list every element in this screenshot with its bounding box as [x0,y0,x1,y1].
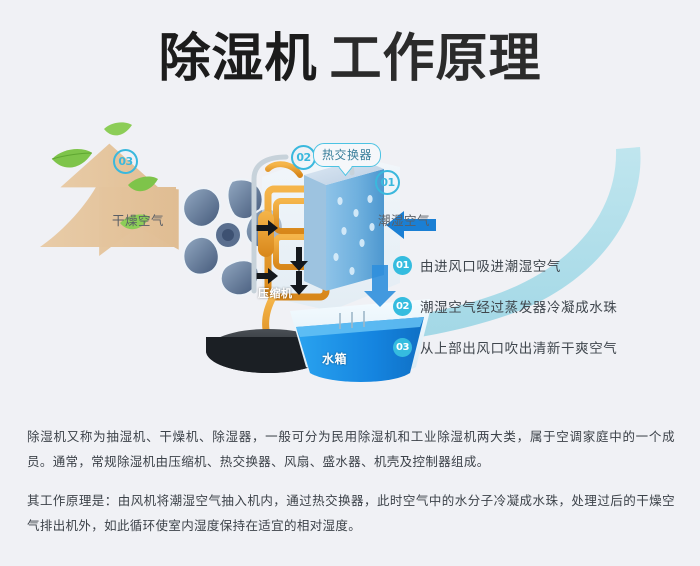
steps-list: 01 由进风口吸进潮湿空气 02 潮湿空气经过蒸发器冷凝成水珠 03 从上部出风… [393,255,683,378]
step-text: 从上部出风口吹出清新干爽空气 [420,337,617,357]
page-title: 除湿机工作原理 [0,28,700,90]
page-title-part1: 除湿机 [158,29,317,89]
list-item: 01 由进风口吸进潮湿空气 [393,255,683,275]
paragraph-1: 除湿机又称为抽湿机、干燥机、除湿器，一般可分为民用除湿机和工业除湿机两大类，属于… [27,424,675,474]
infographic-page: 除湿机工作原理 [0,0,700,566]
step-text: 潮湿空气经过蒸发器冷凝成水珠 [420,296,617,316]
step-badge: 03 [393,338,412,357]
heat-exchanger-callout: 热交换器 [313,143,381,167]
list-item: 03 从上部出风口吹出清新干爽空气 [393,337,683,357]
page-title-part2: 工作原理 [330,29,542,89]
illustration-badge-01: 01 [375,170,400,195]
step-text: 由进风口吸进潮湿空气 [420,255,561,275]
leaf-icon-2 [104,122,132,135]
dry-air-label: 干燥空气 [112,210,164,229]
step-badge: 02 [393,297,412,316]
step-badge: 01 [393,256,412,275]
water-tank-label: 水箱 [322,350,347,367]
illustration-badge-03: 03 [113,149,138,174]
list-item: 02 潮湿空气经过蒸发器冷凝成水珠 [393,296,683,316]
paragraph-2: 其工作原理是：由风机将潮湿空气抽入机内，通过热交换器，此时空气中的水分子冷凝成水… [27,488,675,538]
compressor-label: 压缩机 [258,285,293,301]
body-copy: 除湿机又称为抽湿机、干燥机、除湿器，一般可分为民用除湿机和工业除湿机两大类，属于… [27,424,675,538]
humid-air-label: 潮湿空气 [378,210,430,229]
